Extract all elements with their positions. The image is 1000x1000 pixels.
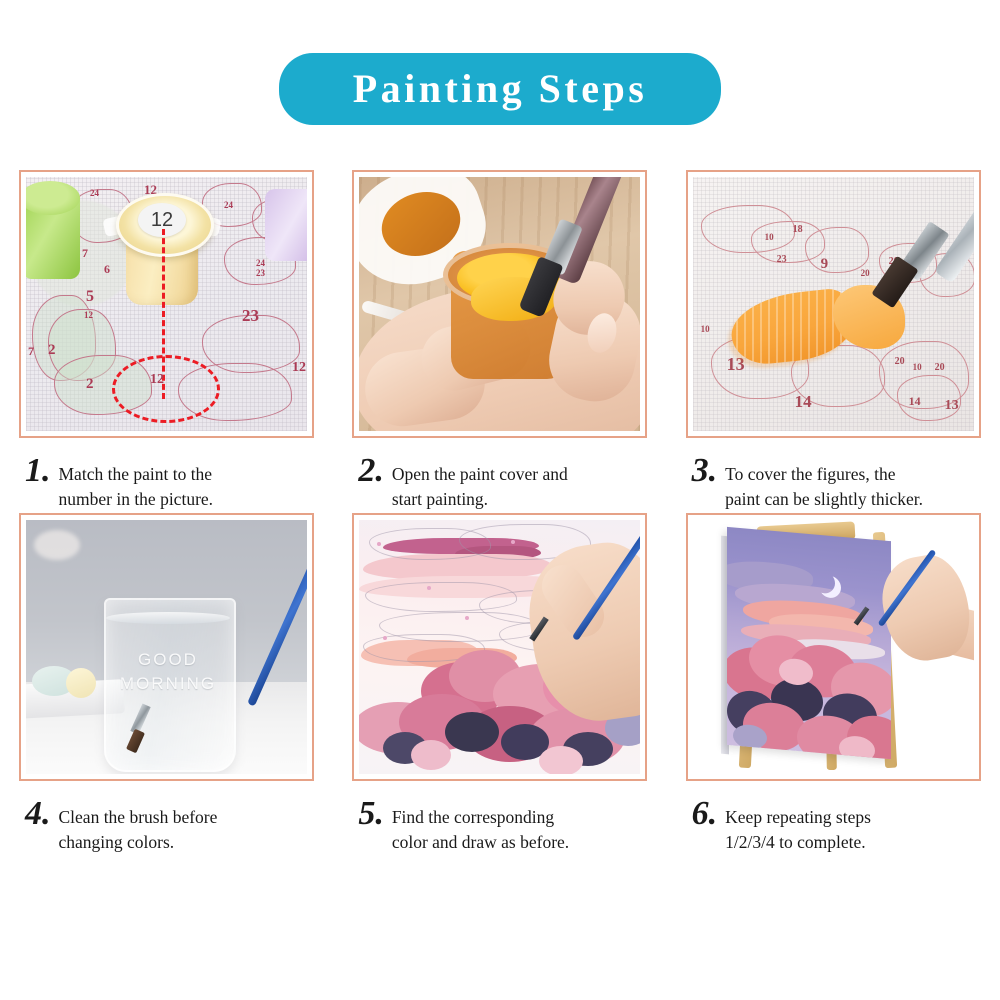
step-2-text-line-2: start painting. bbox=[392, 487, 568, 512]
canvas-number: 7 bbox=[28, 345, 34, 357]
water-surface bbox=[106, 612, 230, 624]
step-2-text: Open the paint cover and start painting. bbox=[386, 454, 568, 513]
canvas-number: 10 bbox=[701, 325, 710, 334]
finished-painting-canvas bbox=[727, 527, 891, 759]
step-4-text-line-2: changing colors. bbox=[59, 830, 218, 855]
step-6-caption: 6. Keep repeating steps 1/2/3/4 to compl… bbox=[686, 781, 981, 856]
blossom-shadow bbox=[445, 712, 499, 752]
step-1-text-line-2: number in the picture. bbox=[59, 487, 214, 512]
blurred-background-object bbox=[34, 530, 80, 560]
step-5-text-line-2: color and draw as before. bbox=[392, 830, 569, 855]
canvas-number: 13 bbox=[727, 355, 745, 373]
step-3-text: To cover the figures, the paint can be s… bbox=[719, 454, 923, 513]
target-canvas-number: 12 bbox=[150, 373, 164, 387]
paint-pot-and-numbered-canvas-image: 12 24 2 24 7 6 5 12 23 2 7 2 24 23 12 bbox=[26, 177, 307, 431]
step-3-text-line-1: To cover the figures, the bbox=[725, 462, 923, 487]
brush-painting-orange-on-numbered-canvas-image: 10 18 23 9 20 20 10 20 13 14 20 10 20 14… bbox=[693, 177, 974, 431]
canvas-number: 5 bbox=[86, 289, 94, 305]
step-card-1: 12 24 2 24 7 6 5 12 23 2 7 2 24 23 12 bbox=[0, 170, 333, 513]
canvas-number: 13 bbox=[945, 399, 959, 413]
step-card-6: 6. Keep repeating steps 1/2/3/4 to compl… bbox=[667, 513, 1000, 856]
canvas-number: 23 bbox=[256, 269, 265, 278]
glass-text-line-2: MORNING bbox=[112, 672, 224, 697]
canvas-number: 24 bbox=[256, 259, 265, 268]
canvas-number: 20 bbox=[895, 357, 905, 367]
step-6-text-line-1: Keep repeating steps bbox=[725, 805, 871, 830]
step-4-text-line-1: Clean the brush before bbox=[59, 805, 218, 830]
canvas-number: 24 bbox=[224, 201, 233, 210]
step-3-number: 3. bbox=[686, 454, 720, 488]
step-1-text-line-1: Match the paint to the bbox=[59, 462, 214, 487]
purple-paint-pot bbox=[265, 189, 307, 261]
step-1-number: 1. bbox=[19, 454, 53, 488]
step-card-5: 5. Find the corresponding color and draw… bbox=[333, 513, 666, 856]
canvas-number: 14 bbox=[909, 395, 921, 407]
step-5-text-line-1: Find the corresponding bbox=[392, 805, 569, 830]
step-6-text: Keep repeating steps 1/2/3/4 to complete… bbox=[719, 797, 871, 856]
step-6-number: 6. bbox=[686, 797, 720, 831]
step-1-photo-frame: 12 24 2 24 7 6 5 12 23 2 7 2 24 23 12 bbox=[19, 170, 314, 438]
step-6-text-line-2: 1/2/3/4 to complete. bbox=[725, 830, 871, 855]
step-5-photo-frame bbox=[352, 513, 647, 781]
step-6-photo-frame bbox=[686, 513, 981, 781]
canvas-number: 2 bbox=[86, 377, 94, 392]
canvas-number: 23 bbox=[242, 307, 259, 324]
canvas-number: 12 bbox=[292, 361, 306, 375]
blossom-highlight bbox=[539, 746, 583, 774]
canvas-number: 10 bbox=[765, 233, 774, 242]
step-2-photo-frame bbox=[352, 170, 647, 438]
step-4-photo-frame: GOOD MORNING bbox=[19, 513, 314, 781]
step-4-caption: 4. Clean the brush before changing color… bbox=[19, 781, 314, 856]
canvas-number: 18 bbox=[793, 225, 803, 235]
title-banner: Painting Steps bbox=[279, 53, 721, 125]
step-card-4: GOOD MORNING 4. Clean the brush before c… bbox=[0, 513, 333, 856]
hand-holding-open-paint-pot-with-brush-image bbox=[359, 177, 640, 431]
glass-text-line-1: GOOD bbox=[112, 648, 224, 673]
canvas-number: 12 bbox=[84, 311, 93, 320]
canvas-outline-shape bbox=[805, 227, 869, 273]
canvas-number: 9 bbox=[821, 257, 829, 272]
step-2-number: 2. bbox=[352, 454, 386, 488]
header: Painting Steps bbox=[0, 0, 1000, 170]
canvas-number: 7 bbox=[82, 247, 88, 259]
canvas-number: 14 bbox=[795, 393, 812, 410]
step-2-caption: 2. Open the paint cover and start painti… bbox=[352, 438, 647, 513]
glass-printed-text: GOOD MORNING bbox=[112, 648, 224, 697]
page-title: Painting Steps bbox=[353, 69, 648, 109]
canvas-number: 10 bbox=[913, 363, 922, 372]
finished-painting-on-easel-with-hand-image bbox=[693, 520, 974, 774]
canvas-number: 20 bbox=[935, 363, 945, 373]
step-1-caption: 1. Match the paint to the number in the … bbox=[19, 438, 314, 513]
step-5-number: 5. bbox=[352, 797, 386, 831]
canvas-number: 20 bbox=[861, 269, 870, 278]
canvas-number: 23 bbox=[777, 255, 787, 265]
step-4-number: 4. bbox=[19, 797, 53, 831]
step-5-caption: 5. Find the corresponding color and draw… bbox=[352, 781, 647, 856]
background-object bbox=[66, 668, 96, 698]
step-5-text: Find the corresponding color and draw as… bbox=[386, 797, 569, 856]
step-card-3: 10 18 23 9 20 20 10 20 13 14 20 10 20 14… bbox=[667, 170, 1000, 513]
match-target-dashed-ellipse bbox=[112, 355, 220, 423]
steps-grid: 12 24 2 24 7 6 5 12 23 2 7 2 24 23 12 bbox=[0, 170, 1000, 856]
canvas-number: 24 bbox=[90, 189, 99, 198]
step-4-text: Clean the brush before changing colors. bbox=[53, 797, 218, 856]
step-2-text-line-1: Open the paint cover and bbox=[392, 462, 568, 487]
green-paint-pot bbox=[26, 191, 80, 279]
step-3-caption: 3. To cover the figures, the paint can b… bbox=[686, 438, 981, 513]
canvas-number: 2 bbox=[48, 343, 56, 358]
hand-painting-partially-finished-canvas-image bbox=[359, 520, 640, 774]
step-3-photo-frame: 10 18 23 9 20 20 10 20 13 14 20 10 20 14… bbox=[686, 170, 981, 438]
step-1-text: Match the paint to the number in the pic… bbox=[53, 454, 214, 513]
step-3-text-line-2: paint can be slightly thicker. bbox=[725, 487, 923, 512]
step-card-2: 2. Open the paint cover and start painti… bbox=[333, 170, 666, 513]
brush-in-glass-of-water-image: GOOD MORNING bbox=[26, 520, 307, 774]
blossom-highlight bbox=[411, 740, 451, 770]
